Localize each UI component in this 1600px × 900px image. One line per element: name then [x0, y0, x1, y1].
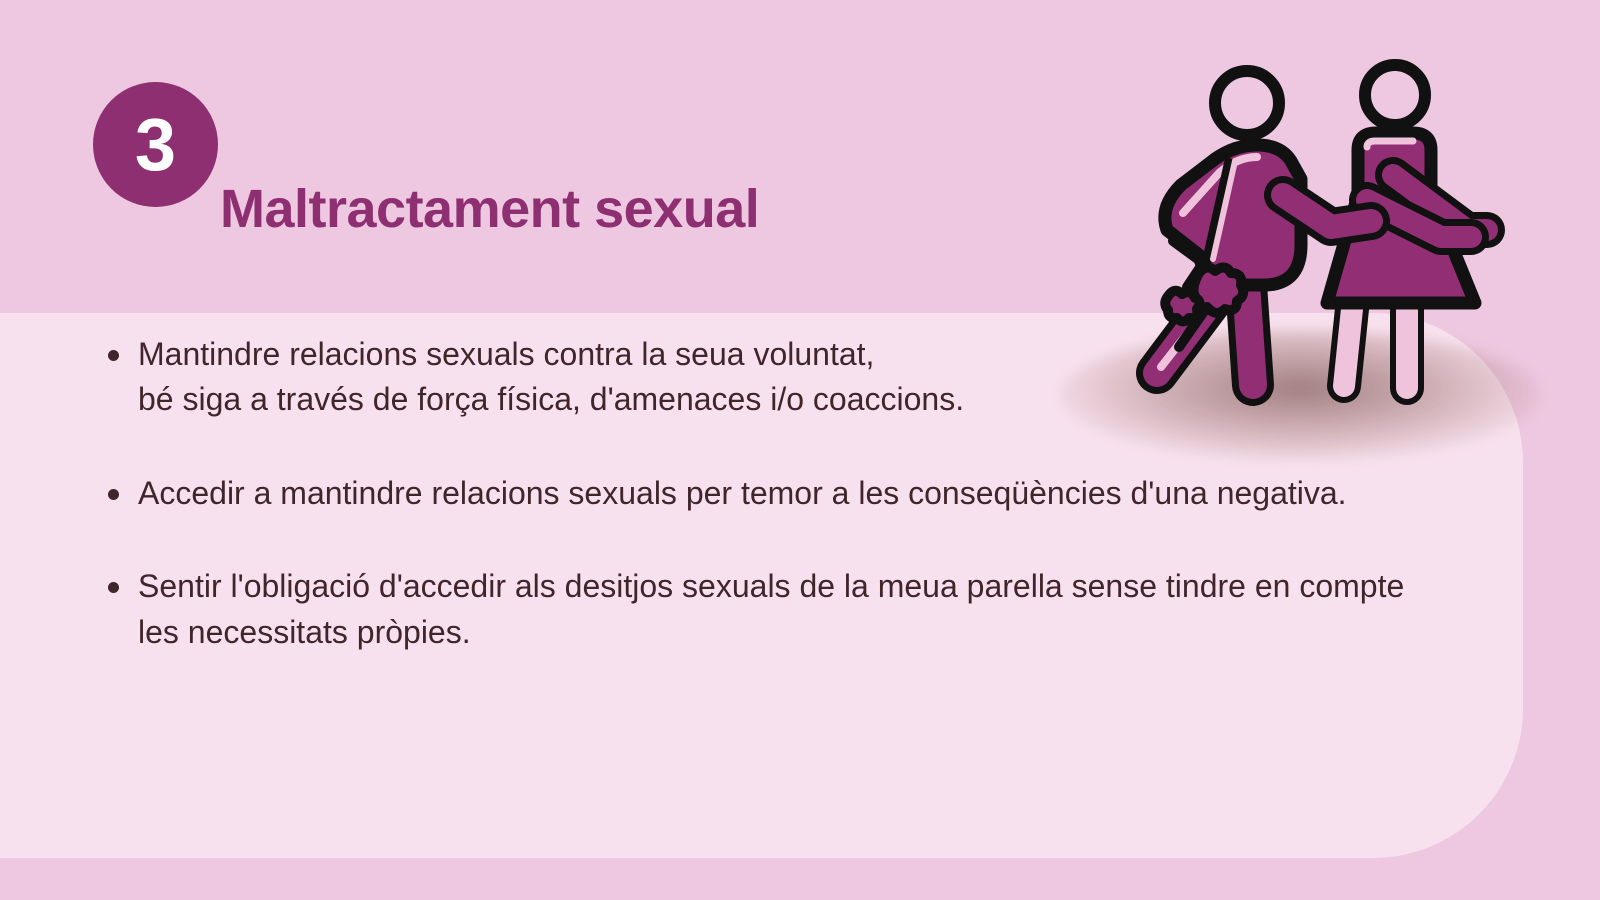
list-item-text: Accedir a mantindre relacions sexuals pe…	[138, 471, 1420, 516]
bullet-marker-icon	[108, 489, 119, 500]
couple-pictogram-illustration	[1095, 55, 1495, 410]
list-item: Sentir l'obligació d'accedir als desitjo…	[100, 564, 1420, 655]
step-number-badge: 3	[93, 82, 218, 207]
page-title: Maltractament sexual	[220, 178, 759, 240]
list-item: Accedir a mantindre relacions sexuals pe…	[100, 471, 1420, 516]
step-number-label: 3	[135, 108, 176, 182]
list-item-text: Sentir l'obligació d'accedir als desitjo…	[138, 564, 1420, 655]
bullet-marker-icon	[108, 582, 119, 593]
bullet-marker-icon	[108, 350, 119, 361]
bottom-band	[0, 858, 1600, 900]
slide-root: 3 Maltractament sexual Mantindre relacio…	[0, 0, 1600, 900]
